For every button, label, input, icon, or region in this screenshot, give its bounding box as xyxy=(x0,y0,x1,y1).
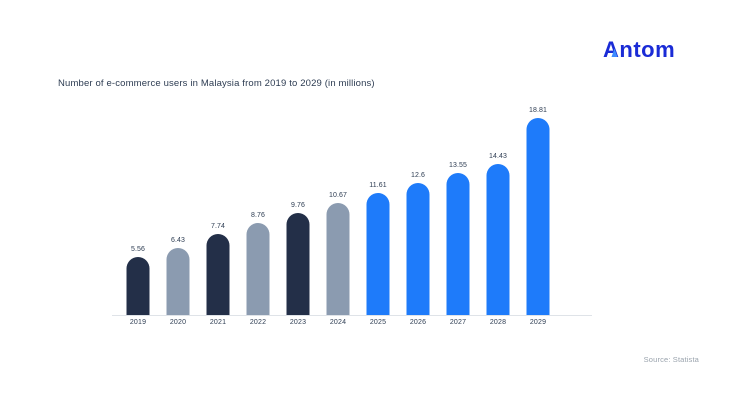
bar-value-label-2028: 14.43 xyxy=(489,153,507,160)
x-tick-2025: 2025 xyxy=(358,319,398,326)
bar-group-2019[interactable]: 5.56 xyxy=(118,100,158,315)
chart-title: Number of e-commerce users in Malaysia f… xyxy=(58,78,375,89)
x-tick-2019: 2019 xyxy=(118,319,158,326)
bar-2021[interactable] xyxy=(207,234,230,315)
bar-value-label-2021: 7.74 xyxy=(211,223,225,230)
bar-2022[interactable] xyxy=(247,223,270,315)
x-tick-2027: 2027 xyxy=(438,319,478,326)
antom-logo-mark: Antom xyxy=(603,37,699,63)
bar-group-2025[interactable]: 11.61 xyxy=(358,100,398,315)
bar-2019[interactable] xyxy=(127,257,150,315)
bar-2029[interactable] xyxy=(527,118,550,315)
x-axis-tick-labels: 2019202020212022202320242025202620272028… xyxy=(118,319,586,333)
antom-wordmark-text: Antom xyxy=(603,37,675,62)
bar-group-2022[interactable]: 8.76 xyxy=(238,100,278,315)
x-tick-2029: 2029 xyxy=(518,319,558,326)
x-axis-line xyxy=(112,315,592,316)
bar-value-label-2025: 11.61 xyxy=(369,182,387,189)
x-tick-2028: 2028 xyxy=(478,319,518,326)
bar-value-label-2024: 10.67 xyxy=(329,192,347,199)
bar-chart-plot-area: 5.566.437.748.769.7610.6711.6112.613.551… xyxy=(118,100,586,315)
bar-value-label-2029: 18.81 xyxy=(529,107,547,114)
bar-group-2027[interactable]: 13.55 xyxy=(438,100,478,315)
source-attribution: Source: Statista xyxy=(644,355,699,364)
bar-value-label-2027: 13.55 xyxy=(449,162,467,169)
x-tick-2023: 2023 xyxy=(278,319,318,326)
bar-group-2021[interactable]: 7.74 xyxy=(198,100,238,315)
bar-value-label-2020: 6.43 xyxy=(171,237,185,244)
bar-2023[interactable] xyxy=(287,213,310,315)
bar-group-2029[interactable]: 18.81 xyxy=(518,100,558,315)
bar-group-2020[interactable]: 6.43 xyxy=(158,100,198,315)
x-tick-2026: 2026 xyxy=(398,319,438,326)
x-tick-2021: 2021 xyxy=(198,319,238,326)
x-tick-2020: 2020 xyxy=(158,319,198,326)
antom-logo: Antom xyxy=(603,36,699,64)
bar-group-2024[interactable]: 10.67 xyxy=(318,100,358,315)
bar-value-label-2023: 9.76 xyxy=(291,202,305,209)
bar-group-2026[interactable]: 12.6 xyxy=(398,100,438,315)
x-tick-2024: 2024 xyxy=(318,319,358,326)
bar-2028[interactable] xyxy=(487,164,510,315)
bar-2027[interactable] xyxy=(447,173,470,315)
bar-group-2023[interactable]: 9.76 xyxy=(278,100,318,315)
bar-2026[interactable] xyxy=(407,183,430,315)
x-tick-2022: 2022 xyxy=(238,319,278,326)
bar-2024[interactable] xyxy=(327,203,350,315)
bar-value-label-2019: 5.56 xyxy=(131,246,145,253)
bar-2025[interactable] xyxy=(367,193,390,315)
bar-value-label-2022: 8.76 xyxy=(251,212,265,219)
bar-group-2028[interactable]: 14.43 xyxy=(478,100,518,315)
bar-2020[interactable] xyxy=(167,248,190,315)
bar-value-label-2026: 12.6 xyxy=(411,172,425,179)
